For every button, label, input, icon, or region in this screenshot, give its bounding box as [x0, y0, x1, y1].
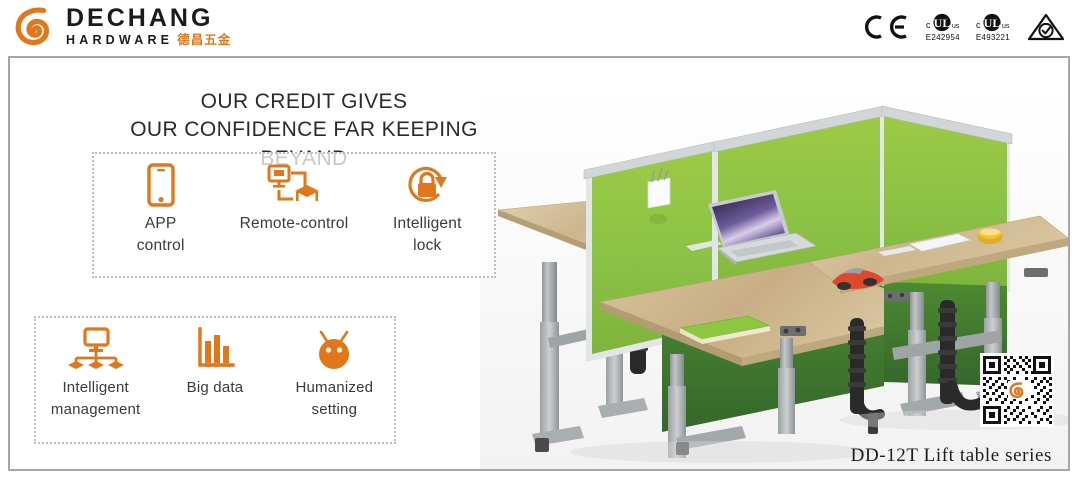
svg-text:UL: UL: [933, 16, 950, 30]
feature-box-bottom: Intelligent management Big data: [34, 316, 396, 444]
remote-desk-network-icon: [265, 163, 323, 207]
feature-humanized-setting-label: Humanized setting: [295, 377, 373, 421]
page-header: DECHANG HARDWARE 德昌五金 c UL us E242954: [0, 0, 1080, 55]
svg-text:us: us: [1002, 23, 1010, 30]
ce-mark-icon: [862, 13, 910, 41]
ul-mark-2-icon: c UL us E493221: [976, 13, 1010, 42]
rcm-mark-icon: [1026, 12, 1066, 42]
brand-name: DECHANG: [66, 6, 231, 31]
feature-intelligent-management-label: Intelligent management: [51, 377, 141, 421]
feature-intelligent-management[interactable]: Intelligent management: [36, 318, 155, 442]
svg-text:c: c: [976, 20, 981, 30]
ul-file-number-1: E242954: [926, 33, 960, 42]
android-robot-icon: [313, 327, 355, 371]
main-content-panel: OUR CREDIT GIVES OUR CONFIDENCE FAR KEEP…: [8, 56, 1070, 471]
feature-big-data[interactable]: Big data: [155, 318, 274, 442]
svg-text:us: us: [952, 23, 960, 30]
feature-app-control-label: APP control: [137, 213, 185, 258]
brand-text: DECHANG HARDWARE 德昌五金: [66, 6, 231, 47]
feature-box-top: APP control Remote-control: [92, 152, 496, 278]
product-caption: DD-12T Lift table series: [851, 445, 1052, 467]
yellow-cup: [977, 228, 1003, 244]
feature-remote-control-label: Remote-control: [240, 213, 349, 235]
feature-intelligent-lock[interactable]: Intelligent lock: [361, 154, 494, 276]
headline-line-1: OUR CREDIT GIVES: [104, 88, 504, 116]
feature-app-control[interactable]: APP control: [94, 154, 227, 276]
ul-file-number-2: E493221: [976, 33, 1010, 42]
certification-marks: c UL us E242954 c UL us E493221: [862, 5, 1066, 49]
smartphone-icon: [146, 163, 176, 207]
feature-humanized-setting[interactable]: Humanized setting: [275, 318, 394, 442]
feature-remote-control[interactable]: Remote-control: [227, 154, 360, 276]
svg-text:UL: UL: [984, 16, 1001, 30]
brand-chinese-name: 德昌五金: [177, 34, 231, 47]
bar-chart-icon: [195, 327, 235, 371]
brand-subtitle: HARDWARE: [66, 34, 173, 47]
svg-text:c: c: [926, 20, 931, 30]
feature-big-data-label: Big data: [187, 377, 244, 399]
dechang-swirl-logo-icon: [12, 4, 56, 48]
ul-mark-1-icon: c UL us E242954: [926, 13, 960, 42]
feature-intelligent-lock-label: Intelligent lock: [393, 213, 462, 258]
monitor-desk-tree-icon: [68, 327, 124, 371]
brand-lockup: DECHANG HARDWARE 德昌五金: [12, 4, 231, 48]
padlock-refresh-icon: [405, 163, 449, 207]
qr-code[interactable]: [980, 353, 1054, 427]
